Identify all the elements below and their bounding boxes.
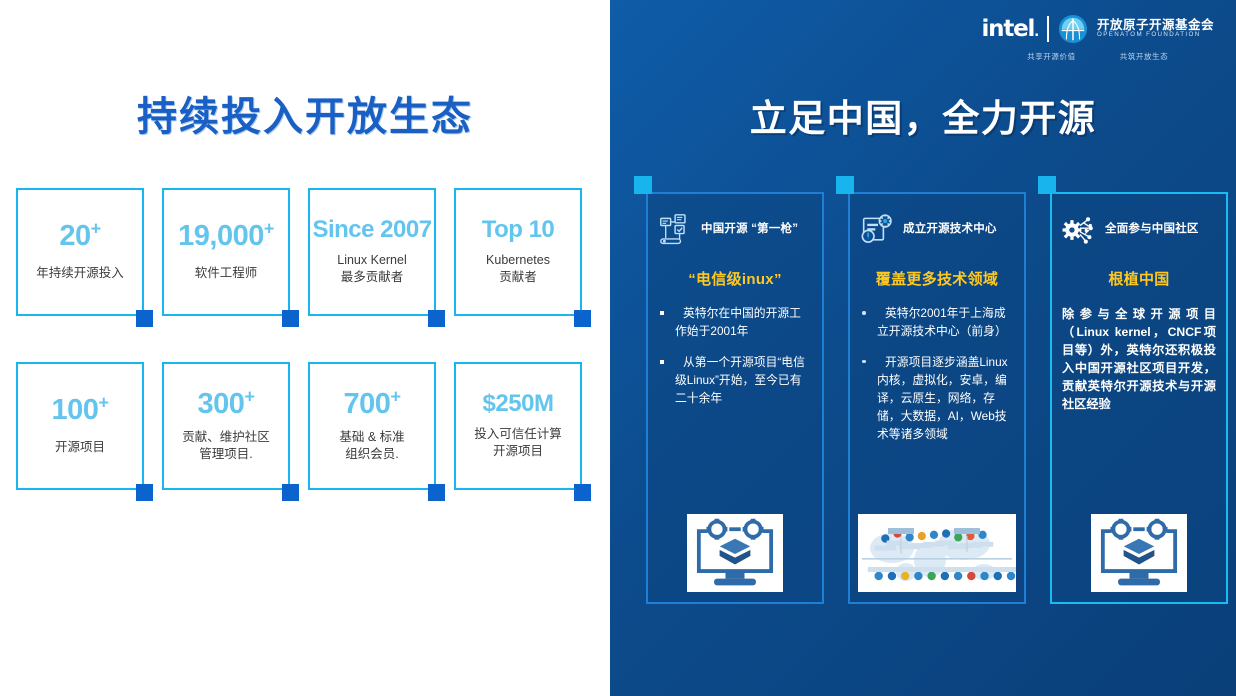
- stat-superscript: +: [390, 386, 400, 406]
- info-card: 中国开源 “第一枪”“电信级inux”英特尔在中国的开源工作始于2001年从第一…: [646, 192, 824, 604]
- monitor-gears-icon: [1091, 514, 1187, 592]
- slide-root: 持续投入开放生态 20+年持续开源投入19,000+软件工程师Since 200…: [0, 0, 1236, 696]
- cards-row: 中国开源 “第一枪”“电信级inux”英特尔在中国的开源工作始于2001年从第一…: [646, 192, 1228, 604]
- card-bullet-item: 英特尔在中国的开源工作始于2001年: [658, 305, 812, 341]
- stat-box: 100+开源项目: [16, 362, 144, 490]
- stat-box: $250M投入可信任计算 开源项目: [454, 362, 582, 490]
- openatom-wordmark: 开放原子开源基金会 OPENATOM FOUNDATION: [1097, 19, 1214, 39]
- stat-number: 20+: [59, 222, 100, 251]
- stat-label: 软件工程师: [195, 265, 258, 282]
- stat-box: 20+年持续开源投入: [16, 188, 144, 316]
- stat-superscript: +: [98, 392, 108, 412]
- card-corner-accent: [836, 176, 854, 194]
- stat-box: 19,000+软件工程师: [162, 188, 290, 316]
- left-panel-title: 持续投入开放生态: [0, 84, 610, 142]
- left-panel: 持续投入开放生态 20+年持续开源投入19,000+软件工程师Since 200…: [0, 0, 610, 696]
- stat-label: Kubernetes 贡献者: [486, 252, 550, 286]
- card-bullet-list: 英特尔2001年于上海成立开源技术中心（前身）开源项目逐步涵盖Linux内核，虚…: [860, 305, 1014, 443]
- stat-number: 300+: [198, 390, 255, 419]
- info-card: 全面参与中国社区根植中国除参与全球开源项目（Linux kernel，CNCF项…: [1050, 192, 1228, 604]
- card-header-label: 成立开源技术中心: [903, 223, 997, 237]
- stat-number: 700+: [344, 390, 401, 419]
- stats-grid: 20+年持续开源投入19,000+软件工程师Since 2007Linux Ke…: [16, 188, 586, 490]
- card-corner-accent: [634, 176, 652, 194]
- stat-box: Top 10Kubernetes 贡献者: [454, 188, 582, 316]
- card-title: “电信级inux”: [658, 268, 812, 289]
- monitor-gears-icon: [687, 514, 783, 592]
- logo-sub-right: 共筑开放生态: [1120, 51, 1169, 62]
- logo-bar: intel. 开放原子开源基金会: [981, 14, 1214, 62]
- openatom-logo-icon: [1058, 14, 1088, 44]
- card-body: 英特尔2001年于上海成立开源技术中心（前身）开源项目逐步涵盖Linux内核，虚…: [860, 305, 1014, 514]
- stat-number: 100+: [52, 396, 109, 425]
- stat-box: Since 2007Linux Kernel 最多贡献者: [308, 188, 436, 316]
- card-body: 除参与全球开源项目（Linux kernel，CNCF项目等）外，英特尔还积极投…: [1062, 305, 1216, 514]
- card-bullet-item: 开源项目逐步涵盖Linux内核，虚拟化，安卓，编译，云原生，网络，存储，大数据，…: [860, 354, 1014, 444]
- card-bullet-item: 英特尔2001年于上海成立开源技术中心（前身）: [860, 305, 1014, 341]
- intel-logo: intel.: [981, 16, 1038, 42]
- flowchart-icon: [658, 213, 694, 247]
- card-header: 全面参与中国社区: [1062, 208, 1216, 252]
- stat-number: Since 2007: [312, 218, 431, 242]
- stat-number: Top 10: [482, 218, 555, 242]
- stat-label: 年持续开源投入: [36, 265, 124, 282]
- stat-label: 贡献、维护社区 管理项目.: [182, 429, 270, 463]
- card-title: 根植中国: [1062, 268, 1216, 289]
- stat-label: 开源项目: [55, 439, 105, 456]
- stat-superscript: +: [91, 218, 101, 238]
- right-panel: intel. 开放原子开源基金会: [610, 0, 1236, 696]
- gear-network-icon: [1062, 213, 1098, 247]
- logo-divider: [1047, 16, 1049, 42]
- logo-row: intel. 开放原子开源基金会: [981, 14, 1214, 44]
- stat-superscript: +: [244, 386, 254, 406]
- card-header: 中国开源 “第一枪”: [658, 208, 812, 252]
- stat-label: Linux Kernel 最多贡献者: [337, 252, 407, 286]
- logo-subtitles: 共享开源价值 共筑开放生态: [1027, 51, 1168, 62]
- card-bullet-item: 从第一个开源项目“电信级Linux”开始，至今已有二十余年: [658, 354, 812, 408]
- stat-number: $250M: [483, 392, 554, 416]
- card-title: 覆盖更多技术领域: [860, 268, 1014, 289]
- card-paragraph: 除参与全球开源项目（Linux kernel，CNCF项目等）外，英特尔还积极投…: [1062, 305, 1216, 413]
- card-header-label: 中国开源 “第一枪”: [701, 223, 798, 237]
- card-bullet-list: 英特尔在中国的开源工作始于2001年从第一个开源项目“电信级Linux”开始，至…: [658, 305, 812, 408]
- card-header: 成立开源技术中心: [860, 208, 1014, 252]
- stat-label: 基础 & 标准 组织会员.: [339, 429, 404, 463]
- stat-superscript: +: [264, 218, 274, 238]
- card-header-label: 全面参与中国社区: [1105, 223, 1199, 237]
- card-corner-accent: [1038, 176, 1056, 194]
- stat-box: 300+贡献、维护社区 管理项目.: [162, 362, 290, 490]
- logo-sub-left: 共享开源价值: [1027, 51, 1076, 62]
- world-map-timeline-image: [858, 514, 1016, 592]
- document-gear-icon: [860, 213, 896, 247]
- card-body: 英特尔在中国的开源工作始于2001年从第一个开源项目“电信级Linux”开始，至…: [658, 305, 812, 514]
- right-panel-title: 立足中国，全力开源: [610, 88, 1236, 142]
- info-card: 成立开源技术中心覆盖更多技术领域英特尔2001年于上海成立开源技术中心（前身）开…: [848, 192, 1026, 604]
- stat-number: 19,000+: [178, 222, 274, 251]
- stat-label: 投入可信任计算 开源项目: [474, 426, 562, 460]
- stat-box: 700+基础 & 标准 组织会员.: [308, 362, 436, 490]
